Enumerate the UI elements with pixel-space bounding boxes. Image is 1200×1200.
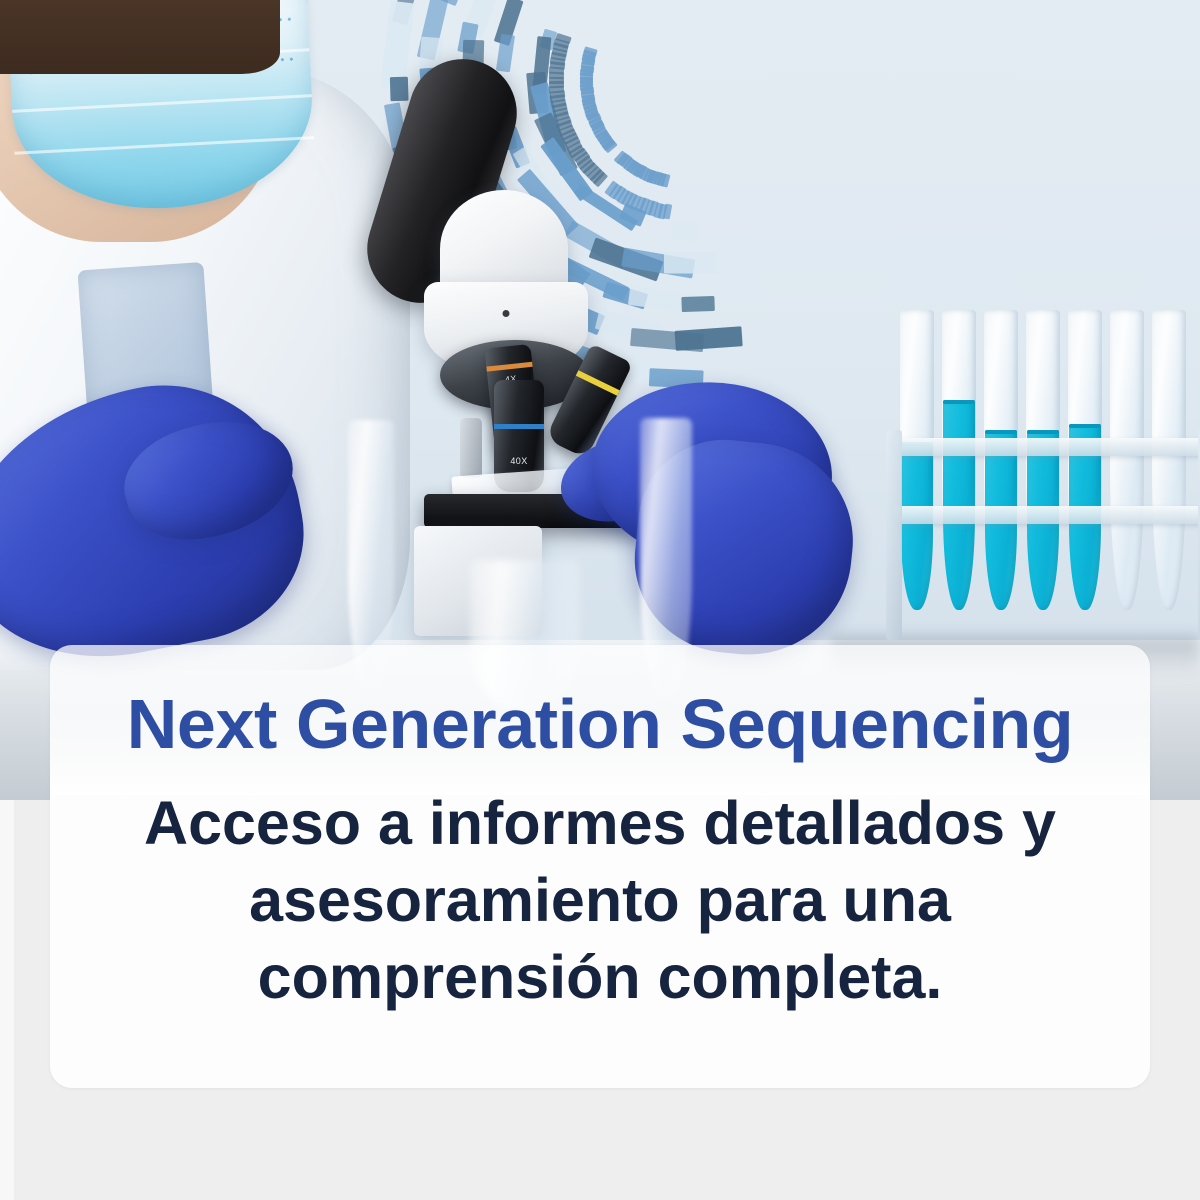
test-tube bbox=[1068, 310, 1102, 610]
dna-block bbox=[671, 222, 698, 242]
dna-block bbox=[674, 326, 742, 350]
dna-arc-segment bbox=[662, 204, 671, 220]
subtitle-line-2: asesoramiento para una bbox=[144, 862, 1056, 939]
subtitle-line-3: comprensión completa. bbox=[144, 939, 1056, 1016]
promo-banner: 4X 40X Next Generation Sequencing Acceso… bbox=[0, 0, 1200, 1200]
mask-pleat bbox=[14, 136, 314, 155]
tube-liquid bbox=[901, 442, 933, 610]
test-tube bbox=[1152, 310, 1186, 610]
subtitle-line-1: Acceso a informes detallados y bbox=[144, 785, 1056, 862]
test-tube bbox=[942, 310, 976, 610]
rack-crossbar bbox=[894, 506, 1200, 524]
mask-pleat bbox=[12, 94, 312, 113]
dna-block bbox=[390, 76, 408, 101]
test-tube bbox=[1026, 310, 1060, 610]
page-title: Next Generation Sequencing bbox=[127, 689, 1073, 759]
objective-color-ring bbox=[486, 362, 532, 372]
objective-label-40x: 40X bbox=[494, 456, 544, 466]
test-tube bbox=[900, 310, 934, 610]
page-subtitle: Acceso a informes detallados y asesorami… bbox=[144, 785, 1056, 1016]
microscope-focus-knob bbox=[460, 418, 482, 478]
test-tube-rack bbox=[900, 310, 1200, 690]
tube-liquid bbox=[943, 400, 975, 610]
content-card: Next Generation Sequencing Acceso a info… bbox=[50, 645, 1150, 1088]
scientist-hair bbox=[0, 0, 280, 74]
objective-color-ring bbox=[576, 370, 620, 396]
rack-crossbar bbox=[894, 438, 1200, 456]
test-tube bbox=[1110, 310, 1144, 610]
dna-block bbox=[681, 296, 714, 312]
dna-arc-segment bbox=[660, 174, 670, 188]
objective-color-ring bbox=[494, 424, 544, 429]
dna-block bbox=[664, 252, 717, 274]
rack-side-panel bbox=[886, 430, 902, 640]
test-tube bbox=[984, 310, 1018, 610]
